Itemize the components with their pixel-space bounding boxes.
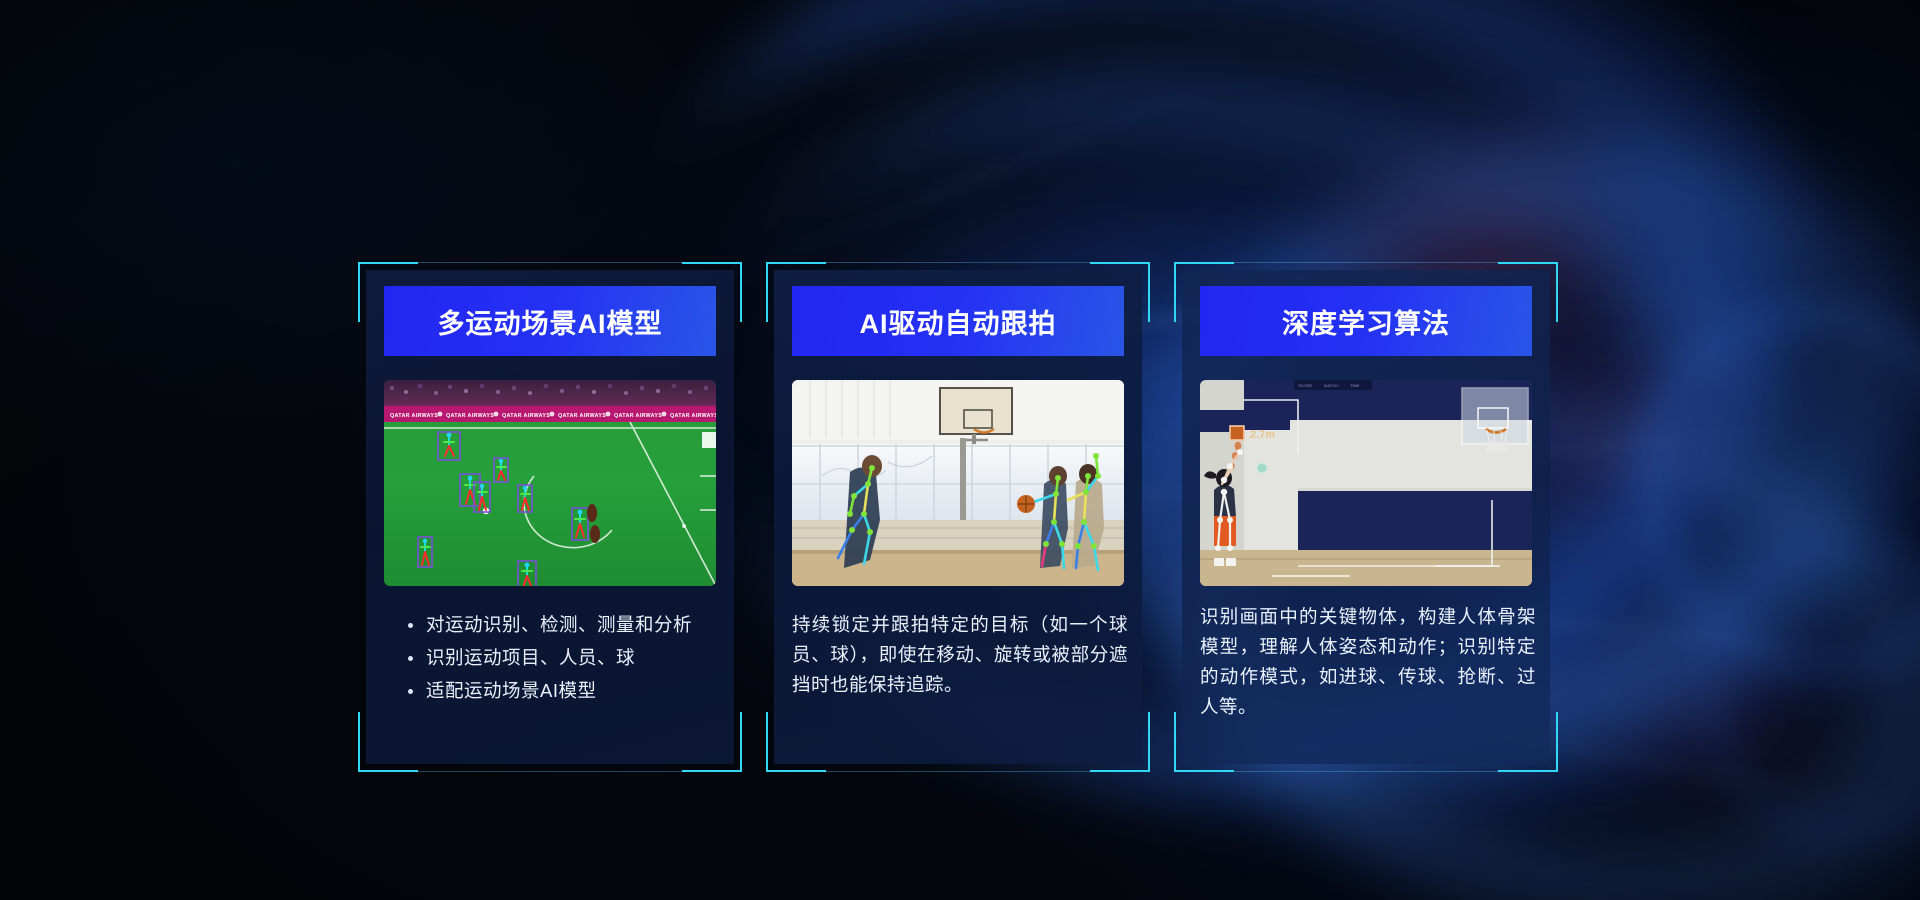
card-title-bar: AI驱动自动跟拍 bbox=[792, 286, 1124, 356]
svg-text:QATAR AIRWAYS: QATAR AIRWAYS bbox=[670, 413, 716, 419]
svg-text:TIME: TIME bbox=[1350, 383, 1360, 388]
card-body: 对运动识别、检测、测量和分析 识别运动项目、人员、球 适配运动场景AI模型 bbox=[384, 610, 720, 709]
feature-card-multi-sport-ai-model[interactable]: 多运动场景AI模型 bbox=[358, 262, 742, 772]
card-edge-bottom bbox=[416, 771, 684, 772]
card-title-bar: 深度学习算法 bbox=[1200, 286, 1532, 356]
feature-card-ai-auto-tracking[interactable]: AI驱动自动跟拍 bbox=[766, 262, 1150, 772]
list-item: 识别运动项目、人员、球 bbox=[408, 643, 720, 673]
svg-text:QATAR AIRWAYS: QATAR AIRWAYS bbox=[558, 413, 606, 419]
feature-description: 持续锁定并跟拍特定的目标（如一个球员、球），即使在移动、旋转或被部分遮挡时也能保… bbox=[792, 610, 1128, 700]
basketball-gym-pose-thumbnail[interactable] bbox=[792, 380, 1124, 586]
card-title: 深度学习算法 bbox=[1282, 302, 1450, 341]
svg-text:QATAR AIRWAYS: QATAR AIRWAYS bbox=[502, 413, 550, 419]
card-title: AI驱动自动跟拍 bbox=[860, 302, 1057, 341]
feature-bullet-list: 对运动识别、检测、测量和分析 识别运动项目、人员、球 适配运动场景AI模型 bbox=[384, 610, 720, 706]
feature-card-deep-learning-algorithm[interactable]: 深度学习算法 SCOREMATCHTIME bbox=[1174, 262, 1558, 772]
soccer-detection-thumbnail[interactable]: QATAR AIRWAYS QATAR AIRWAYS QATAR AIRWAY… bbox=[384, 380, 716, 586]
svg-text:2.7m: 2.7m bbox=[1250, 429, 1275, 441]
svg-text:MATCH: MATCH bbox=[1324, 383, 1338, 388]
soccer-detection-illustration: QATAR AIRWAYS QATAR AIRWAYS QATAR AIRWAY… bbox=[384, 380, 716, 586]
svg-text:SCORE: SCORE bbox=[1298, 383, 1313, 388]
svg-text:QATAR AIRWAYS: QATAR AIRWAYS bbox=[446, 413, 494, 419]
svg-text:QATAR AIRWAYS: QATAR AIRWAYS bbox=[614, 413, 662, 419]
basketball-pose-illustration bbox=[792, 380, 1124, 586]
card-edge-top bbox=[824, 262, 1092, 263]
card-edge-bottom bbox=[824, 771, 1092, 772]
feature-card-row: 多运动场景AI模型 bbox=[0, 0, 1920, 900]
card-edge-top bbox=[416, 262, 684, 263]
card-edge-bottom bbox=[1232, 771, 1500, 772]
card-title-bar: 多运动场景AI模型 bbox=[384, 286, 716, 356]
list-item: 适配运动场景AI模型 bbox=[408, 676, 720, 706]
shot-tracking-illustration: SCOREMATCHTIME bbox=[1200, 380, 1532, 586]
card-body: 识别画面中的关键物体，构建人体骨架模型，理解人体姿态和动作；识别特定的动作模式，… bbox=[1200, 602, 1536, 722]
basketball-shot-tracking-thumbnail[interactable]: SCOREMATCHTIME bbox=[1200, 380, 1532, 586]
card-edge-top bbox=[1232, 262, 1500, 263]
feature-description: 识别画面中的关键物体，构建人体骨架模型，理解人体姿态和动作；识别特定的动作模式，… bbox=[1200, 602, 1536, 722]
svg-text:QATAR AIRWAYS: QATAR AIRWAYS bbox=[390, 413, 438, 419]
list-item: 对运动识别、检测、测量和分析 bbox=[408, 610, 720, 640]
card-body: 持续锁定并跟拍特定的目标（如一个球员、球），即使在移动、旋转或被部分遮挡时也能保… bbox=[792, 610, 1128, 700]
card-title: 多运动场景AI模型 bbox=[438, 302, 663, 341]
